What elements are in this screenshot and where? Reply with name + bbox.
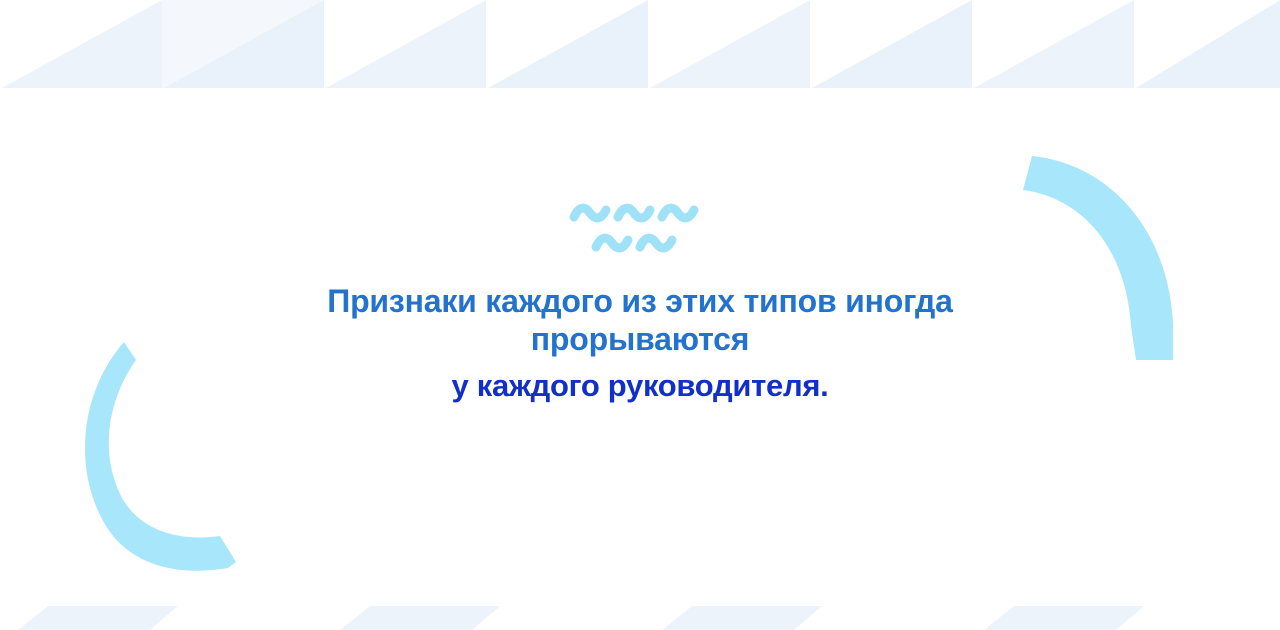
headline-line-1: Признаки каждого из этих типов иногда (260, 283, 1020, 321)
arc-c-left (78, 330, 253, 578)
wave-tildes-icon (566, 193, 726, 261)
headline-text-block: Признаки каждого из этих типов иногда пр… (260, 283, 1020, 404)
triangle-band-bottom (0, 590, 1280, 630)
slide-canvas: Признаки каждого из этих типов иногда пр… (0, 0, 1280, 630)
triangle-band-top (0, 0, 1280, 90)
arc-quarter-right (1018, 138, 1188, 373)
headline-line-2: прорываются (260, 321, 1020, 359)
headline-line-3: у каждого руководителя. (260, 368, 1020, 405)
